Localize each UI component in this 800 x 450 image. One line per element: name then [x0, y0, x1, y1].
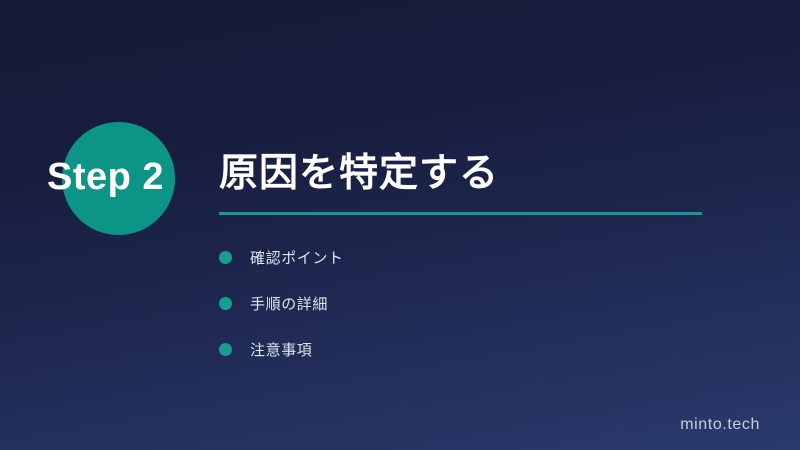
bullet-dot-icon	[219, 251, 232, 264]
list-item: 手順の詳細	[219, 280, 699, 326]
presentation-slide: Step 2 原因を特定する 確認ポイント 手順の詳細 注意事項 minto.t…	[0, 0, 800, 450]
bullet-list: 確認ポイント 手順の詳細 注意事項	[219, 234, 699, 372]
slide-header: Step 2 原因を特定する	[0, 0, 800, 240]
bullet-dot-icon	[219, 297, 232, 310]
footer-brand: minto.tech	[680, 416, 760, 434]
slide-title: 原因を特定する	[219, 148, 499, 200]
bullet-dot-icon	[219, 343, 232, 356]
list-item-label: 注意事項	[250, 339, 312, 360]
list-item-label: 確認ポイント	[250, 247, 344, 268]
list-item-label: 手順の詳細	[250, 293, 328, 314]
list-item: 注意事項	[219, 326, 699, 372]
list-item: 確認ポイント	[219, 234, 699, 280]
step-badge-label: Step 2	[47, 153, 207, 201]
title-divider	[219, 212, 702, 215]
